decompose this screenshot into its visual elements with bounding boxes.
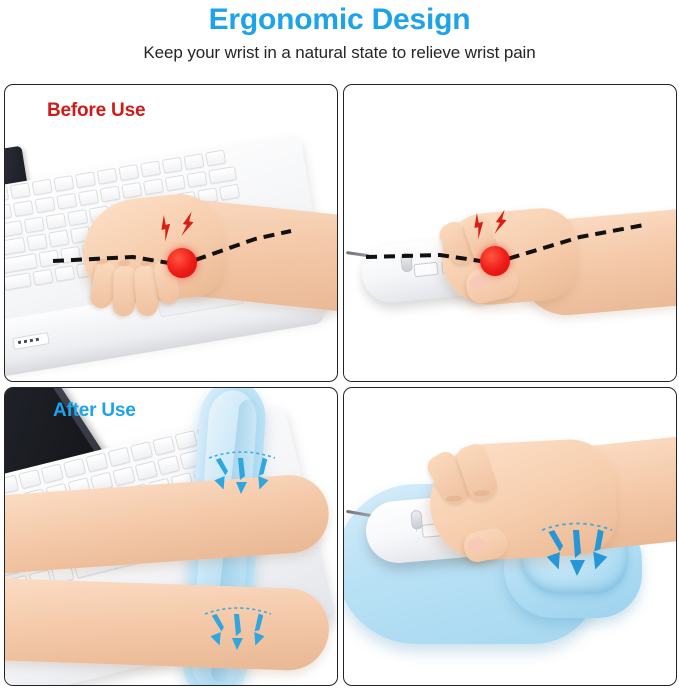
scene-before-mouse (344, 85, 676, 381)
pressure-arrows-top-icon (205, 450, 279, 496)
pressure-arrows-icon (536, 520, 618, 578)
page-subtitle: Keep your wrist in a natural state to re… (0, 38, 679, 64)
header: Ergonomic Design Keep your wrist in a na… (0, 0, 679, 78)
pressure-arrows-bottom-icon (201, 606, 275, 652)
pain-point-marker (480, 246, 510, 276)
pain-indicator-overlay (344, 85, 676, 381)
scene-before-keyboard: Before Use (5, 85, 337, 381)
panel-before-mouse (343, 84, 677, 382)
infographic-page: Ergonomic Design Keep your wrist in a na… (0, 0, 679, 688)
pain-point-marker (167, 248, 197, 278)
scene-after-keyboard: After Use (5, 388, 337, 685)
page-title: Ergonomic Design (0, 0, 679, 38)
badge-before-use: Before Use (47, 100, 145, 122)
panel-before-keyboard: Before Use (4, 84, 338, 382)
forearm-lower (5, 578, 330, 671)
thumbnail (467, 536, 488, 553)
panel-after-keyboard: After Use (4, 387, 338, 686)
pain-indicator-overlay (5, 85, 337, 381)
panel-grid: Before Use (4, 84, 675, 684)
badge-after-use: After Use (53, 400, 136, 422)
scene-after-mouse (344, 388, 676, 685)
wrist-angle-dashed-line (344, 85, 676, 381)
panel-after-mouse (343, 387, 677, 686)
